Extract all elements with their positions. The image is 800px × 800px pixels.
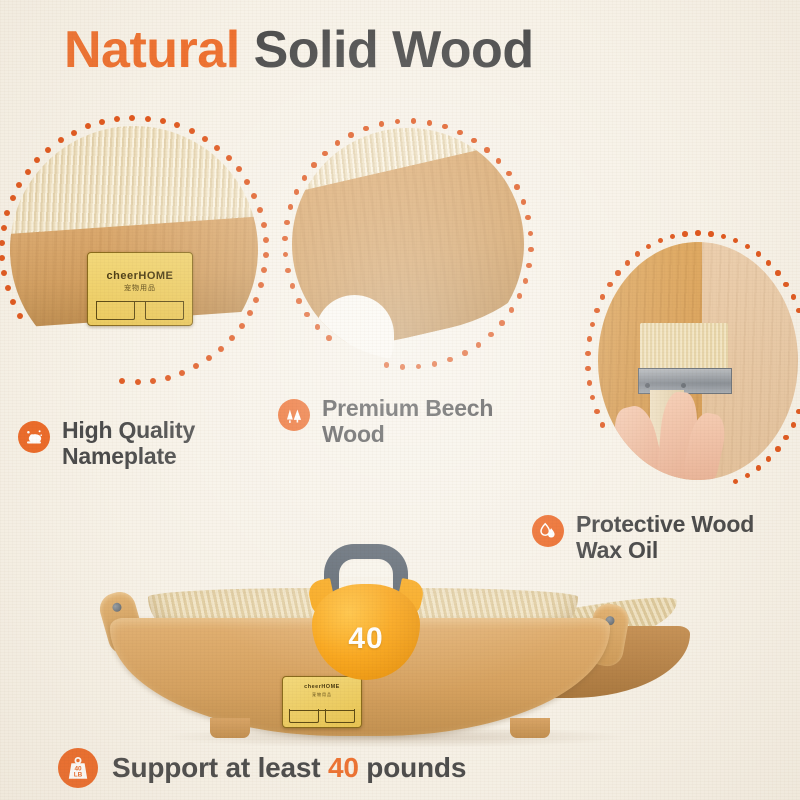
photo-beech-wood-closeup xyxy=(292,128,524,360)
border-dot xyxy=(1,225,7,231)
border-dot xyxy=(114,116,120,122)
border-dot xyxy=(1,270,7,276)
border-dot xyxy=(135,379,141,385)
nameplate-subtext: 宠物用品 xyxy=(312,693,332,697)
trees-icon xyxy=(278,399,310,431)
feature-high-quality-nameplate: High Quality Nameplate xyxy=(18,418,268,470)
feature-label-line2: Nameplate xyxy=(62,443,177,469)
caption-after: pounds xyxy=(359,752,466,783)
oil-droplet-icon xyxy=(532,515,564,547)
caption-highlight: 40 xyxy=(328,752,359,783)
border-dot xyxy=(119,378,125,384)
feature-label-line2: Wax Oil xyxy=(576,537,658,563)
cat-ears-outline-icon xyxy=(289,710,355,724)
border-dot xyxy=(263,237,269,243)
border-dot xyxy=(528,231,534,237)
border-dot xyxy=(695,230,701,236)
feature-label-line1: Premium Beech xyxy=(322,395,493,421)
border-dot xyxy=(379,121,385,127)
support-weight-caption: 40 LB Support at least 40 pounds xyxy=(58,748,466,788)
border-dot xyxy=(258,282,264,288)
border-dot xyxy=(165,375,171,381)
screw-icon xyxy=(111,602,122,613)
border-dot xyxy=(0,240,5,246)
border-dot xyxy=(670,234,676,240)
border-dot xyxy=(261,222,267,228)
border-dot xyxy=(585,351,591,357)
product-nameplate-hero: cheerHOME 宠物用品 xyxy=(282,676,362,728)
border-dot xyxy=(129,115,135,121)
border-dot xyxy=(432,361,438,367)
border-dot xyxy=(0,255,5,261)
product-hero-image: cheerHOME 宠物用品 40 xyxy=(90,540,710,750)
border-dot xyxy=(585,366,591,372)
border-dot xyxy=(528,247,534,253)
page-title-rest: Solid Wood xyxy=(240,21,534,79)
border-dot xyxy=(682,231,688,237)
border-dot xyxy=(587,380,593,386)
photo-nameplate-closeup: cheerHOME 宠物用品 xyxy=(10,126,258,374)
border-dot xyxy=(708,231,714,237)
feature-label: Protective Wood Wax Oil xyxy=(576,512,754,564)
border-dot xyxy=(395,119,401,125)
border-dot xyxy=(427,120,433,126)
border-dot xyxy=(411,118,417,124)
border-dot xyxy=(525,215,531,221)
cat-ears-outline-icon xyxy=(96,301,184,321)
border-dot xyxy=(283,252,289,258)
weight-40lb-icon: 40 LB xyxy=(58,748,98,788)
page-title-highlight: Natural xyxy=(64,21,240,79)
border-dot xyxy=(400,364,406,370)
svg-text:LB: LB xyxy=(74,772,83,779)
nameplate-badge-icon xyxy=(18,421,50,453)
border-dot xyxy=(285,268,291,274)
nameplate-subtext: 宠物用品 xyxy=(124,285,156,292)
border-dot xyxy=(416,364,422,370)
kettlebell-weight-label: 40 xyxy=(304,622,428,656)
border-dot xyxy=(526,263,532,269)
wood-foot-left xyxy=(210,718,250,738)
border-dot xyxy=(721,234,727,240)
feature-label-line2: Wood xyxy=(322,421,385,447)
feature-label: High Quality Nameplate xyxy=(62,418,195,470)
border-dot xyxy=(590,395,596,401)
feature-label: Premium Beech Wood xyxy=(322,396,493,448)
feature-label-line1: Protective Wood xyxy=(576,511,754,537)
border-dot xyxy=(284,220,290,226)
border-dot xyxy=(384,362,390,368)
caption-before: Support at least xyxy=(112,752,328,783)
feature-premium-beech-wood: Premium Beech Wood xyxy=(278,396,540,448)
nameplate-brand: cheerHOME xyxy=(107,271,174,282)
border-dot xyxy=(590,322,596,328)
border-dot xyxy=(587,336,593,342)
border-dot xyxy=(150,378,156,384)
brush-bristles xyxy=(640,323,728,371)
border-dot xyxy=(160,118,166,124)
feature-protective-wood-wax-oil: Protective Wood Wax Oil xyxy=(532,512,794,564)
nameplate-brand: cheerHOME xyxy=(304,685,340,691)
border-dot xyxy=(282,236,288,242)
kettlebell: 40 xyxy=(304,544,428,680)
product-nameplate: cheerHOME 宠物用品 xyxy=(87,252,193,326)
border-dot xyxy=(99,119,105,125)
border-dot xyxy=(261,267,267,273)
page-title: Natural Solid Wood xyxy=(64,24,534,76)
support-weight-text: Support at least 40 pounds xyxy=(112,752,466,784)
feature-label-line1: High Quality xyxy=(62,417,195,443)
wood-foot-right xyxy=(510,718,550,738)
border-dot xyxy=(145,116,151,122)
photo-wax-oil-brushing xyxy=(598,242,798,480)
border-dot xyxy=(263,252,269,258)
